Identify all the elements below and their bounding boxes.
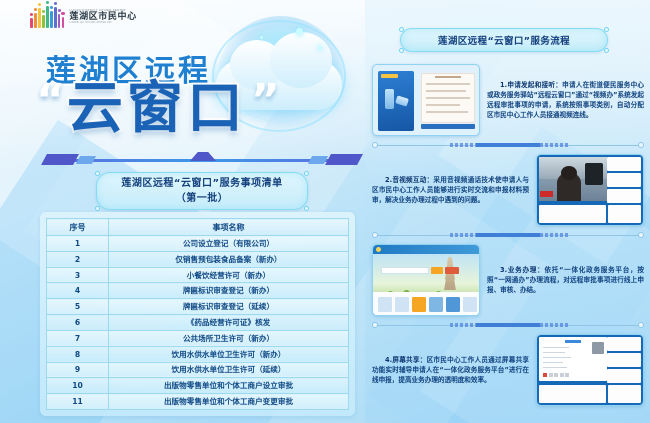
- divider-accent-left: [76, 156, 96, 164]
- sparkle-icon-2: [318, 46, 322, 50]
- quote-close-mark: ”: [251, 80, 280, 122]
- flow-step-1: 1.申请发起和接听：申请人在街道便民服务中心或政务服务驿站“远程云窗口”通过“视…: [372, 60, 644, 140]
- thumb1-form-title: [435, 76, 461, 78]
- cell-no: 9: [47, 362, 109, 378]
- column-header-no: 序号: [47, 219, 109, 236]
- thumb2-person-icon: [557, 173, 581, 201]
- thumb3-search-button: [431, 267, 443, 274]
- list-title-line2: （第一批）: [176, 191, 229, 206]
- service-items-table-container: 序号 事项名称 1公司设立登记（有限公司）2仅销售预包装食品备案（新办）3小餐饮…: [40, 212, 355, 416]
- divider-cap-right: [325, 154, 363, 165]
- table-row: 6《药品经营许可证》核发: [47, 315, 349, 331]
- connector-dot-right: [638, 232, 644, 238]
- form-screen-thumbnail: [372, 64, 480, 136]
- thumb2-video-feed: [539, 157, 607, 201]
- cell-item-name: 饮用水供水单位卫生许可（新办）: [109, 346, 349, 362]
- hero-keyword: 云窗口: [67, 80, 247, 138]
- thumb4-bottom-panels: [539, 385, 641, 403]
- pill-corner-dot-tr: [304, 171, 309, 176]
- divider-cap-left: [41, 154, 79, 165]
- cell-item-name: 《药品经营许可证》核发: [109, 315, 349, 331]
- thumb4-screenshare-ui: [537, 335, 643, 405]
- thumb3-header-bar: [373, 245, 479, 254]
- table-header-row: 序号 事项名称: [47, 219, 349, 236]
- flow-step-4: 4.屏幕共享：区市民中心工作人员通过屏幕共享功能实时辅导申请人在“一体化政务服务…: [372, 330, 644, 410]
- cell-item-name: 牌匾标识审查登记（新办）: [109, 283, 349, 299]
- thumb3-content-area: [373, 292, 479, 315]
- connector-dot-right: [638, 322, 644, 328]
- thumb1-submit-bar: [421, 124, 475, 129]
- thumb3-action-button: [445, 267, 459, 274]
- cell-no: 8: [47, 346, 109, 362]
- thumb3-site-logo: [376, 247, 381, 252]
- table-row: 10出版物零售单位和个体工商户设立审批: [47, 378, 349, 394]
- sparkle-icon-3: [260, 36, 263, 39]
- flow-pill-corner-dot-tr: [604, 27, 609, 32]
- logo-en-bottom: LIANHU QU SHI MIN ZHONG XIN: [69, 22, 136, 24]
- service-items-table: 序号 事项名称 1公司设立登记（有限公司）2仅销售预包装食品备案（新办）3小餐饮…: [46, 218, 349, 410]
- flow-step-1-text: 1.申请发起和接听：申请人在街道便民服务中心或政务服务驿站“远程云窗口”通过“视…: [487, 80, 644, 121]
- cell-item-name: 公司设立登记（有限公司）: [109, 236, 349, 252]
- cell-no: 1: [47, 236, 109, 252]
- cell-no: 6: [47, 315, 109, 331]
- table-row: 4牌匾标识审查登记（新办）: [47, 283, 349, 299]
- cell-item-name: 仅销售预包装食品备案（新办）: [109, 251, 349, 267]
- video-call-thumbnail: [536, 154, 644, 226]
- cell-no: 5: [47, 299, 109, 315]
- thumb4-photo-icon: [592, 342, 604, 354]
- list-section-title: 莲湖区远程“云窗口”服务事项清单 （第一批）: [96, 172, 308, 210]
- cell-no: 4: [47, 283, 109, 299]
- cell-no: 7: [47, 330, 109, 346]
- cell-no: 11: [47, 394, 109, 410]
- flow-step-2: 2.音视频互动：采用音视频通话技术使申请人与区市民中心工作人员能够进行实时交流和…: [372, 150, 644, 230]
- cell-item-name: 牌匾标识审查登记（延续）: [109, 299, 349, 315]
- poster-root: LIANHU DISTRICT CITIZEN CENTER 莲湖区市民中心 L…: [0, 0, 650, 423]
- thumb3-service-tiles: [378, 297, 477, 312]
- table-row: 5牌匾标识审查登记（延续）: [47, 299, 349, 315]
- thumb4-side-panels: [607, 337, 641, 383]
- thumb1-device-icon: [385, 89, 394, 109]
- divider-peak-icon: [190, 152, 216, 161]
- gov-portal-thumbnail: [372, 244, 480, 316]
- sparkle-icon-1: [296, 28, 303, 35]
- cell-item-name: 出版物零售单位和个体工商户设立审批: [109, 378, 349, 394]
- flow-step-3-heading: 业务办理: [507, 266, 537, 274]
- flow-step-3: 3.业务办理：依托“一体化政务服务平台，按照“一网通办”办理流程，对远程审批事项…: [372, 240, 644, 320]
- flow-pill-corner-dot-br: [604, 48, 609, 53]
- service-flow-list: 1.申请发起和接听：申请人在街道便民服务中心或政务服务驿站“远程云窗口”通过“视…: [372, 60, 644, 418]
- cell-item-name: 公共场所卫生许可（新办）: [109, 330, 349, 346]
- table-head: 序号 事项名称: [47, 219, 349, 236]
- hero-title-line2: “ 云窗口 ”: [36, 80, 280, 138]
- thumb1-form-panel: [421, 73, 475, 123]
- pill-corner-dot-bl: [95, 206, 100, 211]
- flow-connector-3: [372, 320, 644, 330]
- flow-pill-corner-dot-tl: [399, 27, 404, 32]
- thumb2-bottom-panels: [539, 205, 641, 223]
- flow-section-title: 莲湖区远程“云窗口”服务流程: [400, 28, 608, 52]
- connector-dot-left: [372, 142, 378, 148]
- flow-step-2-heading: 音视频互动: [392, 176, 426, 184]
- cell-no: 10: [47, 378, 109, 394]
- thumb2-side-panels: [607, 157, 641, 203]
- table-row: 11出版物零售单位和个体工商户变更审批: [47, 394, 349, 410]
- table-row: 3小餐饮经营许可（新办）: [47, 267, 349, 283]
- flow-connector-1: [372, 140, 644, 150]
- pill-corner-dot-br: [304, 206, 309, 211]
- thumb3-website: [373, 245, 479, 315]
- flow-step-4-heading: 屏幕共享: [392, 356, 420, 364]
- table-row: 2仅销售预包装食品备案（新办）: [47, 251, 349, 267]
- table-body: 1公司设立登记（有限公司）2仅销售预包装食品备案（新办）3小餐饮经营许可（新办）…: [47, 236, 349, 410]
- flow-step-1-heading: 申请发起和接听: [507, 81, 555, 89]
- list-title-line1: 莲湖区远程“云窗口”服务事项清单: [121, 176, 282, 191]
- connector-dot-left: [372, 322, 378, 328]
- flow-pill-corner-dot-bl: [399, 48, 404, 53]
- thumb2-video-ui: [537, 155, 643, 225]
- flow-step-3-text: 3.业务办理：依托“一体化政务服务平台，按照“一网通办”办理流程，对远程审批事项…: [487, 265, 644, 296]
- flow-connector-2: [372, 230, 644, 240]
- table-row: 1公司设立登记（有限公司）: [47, 236, 349, 252]
- cell-item-name: 饮用水供水单位卫生许可（延续）: [109, 362, 349, 378]
- table-row: 8饮用水供水单位卫生许可（新办）: [47, 346, 349, 362]
- flow-step-2-text: 2.音视频互动：采用音视频通话技术使申请人与区市民中心工作人员能够进行实时交流和…: [372, 175, 529, 206]
- flow-title-text: 莲湖区远程“云窗口”服务流程: [438, 33, 570, 47]
- cell-item-name: 出版物零售单位和个体工商户变更审批: [109, 394, 349, 410]
- thumb1-badge: [381, 74, 398, 78]
- table-row: 7公共场所卫生许可（新办）: [47, 330, 349, 346]
- cell-no: 3: [47, 267, 109, 283]
- thumb3-search-field: [381, 267, 429, 274]
- logo-people-icon: [30, 6, 64, 28]
- cell-no: 2: [47, 251, 109, 267]
- connector-dot-right: [638, 142, 644, 148]
- thumb4-shared-document: [539, 337, 607, 381]
- table-row: 9饮用水供水单位卫生许可（延续）: [47, 362, 349, 378]
- pill-corner-dot-tl: [95, 171, 100, 176]
- decorative-divider: [44, 152, 360, 168]
- column-header-name: 事项名称: [109, 219, 349, 236]
- quote-open-mark: “: [36, 80, 65, 122]
- cell-item-name: 小餐饮经营许可（新办）: [109, 267, 349, 283]
- logo-text-block: LIANHU DISTRICT CITIZEN CENTER 莲湖区市民中心 L…: [69, 10, 136, 24]
- flow-step-4-text: 4.屏幕共享：区市民中心工作人员通过屏幕共享功能实时辅导申请人在“一体化政务服务…: [372, 355, 529, 386]
- organization-logo: LIANHU DISTRICT CITIZEN CENTER 莲湖区市民中心 L…: [30, 6, 137, 28]
- screen-share-thumbnail: [536, 334, 644, 406]
- connector-dot-left: [372, 232, 378, 238]
